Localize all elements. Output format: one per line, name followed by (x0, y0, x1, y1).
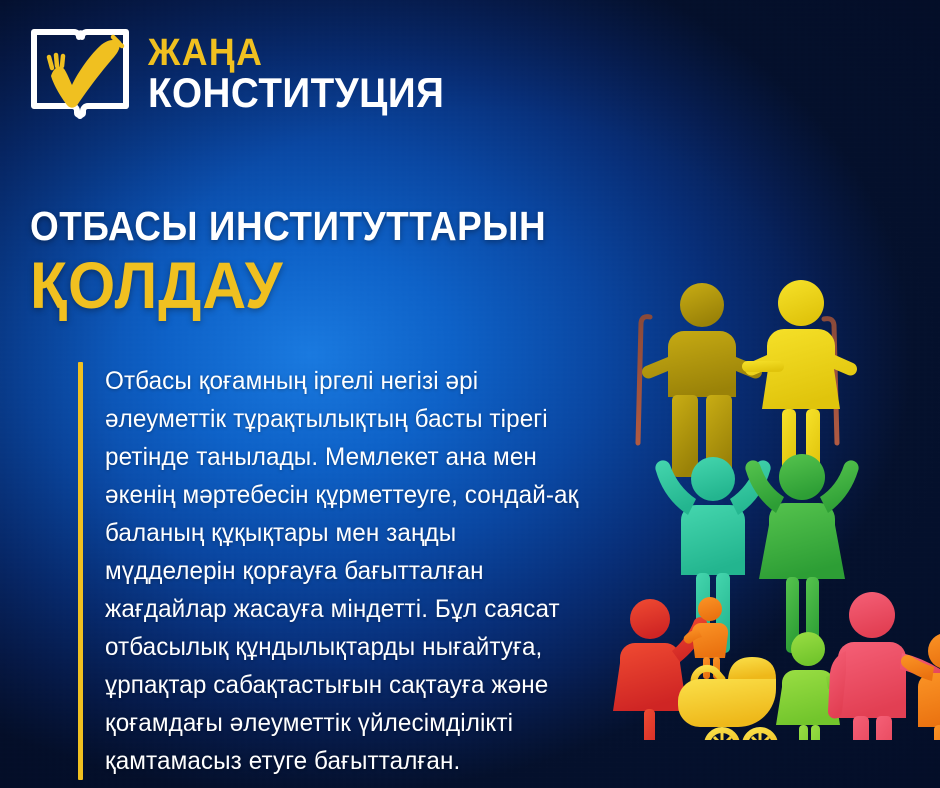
body-paragraph-block: Отбасы қоғамның іргелі негізі әрі әлеуме… (78, 362, 598, 780)
page-title-line-1: ОТБАСЫ ИНСТИТУТТАРЫН (30, 206, 588, 248)
woman-arms-raised-figure (745, 454, 858, 653)
open-book-with-checkmark-icon (28, 24, 132, 124)
brand-logo-text: ЖАҢА КОНСТИТУЦИЯ (148, 36, 470, 113)
parents-celebrating-row (655, 454, 858, 653)
yellow-accent-bar (78, 362, 83, 780)
boy-figure (901, 633, 940, 740)
page-title: ОТБАСЫ ИНСТИТУТТАРЫН ҚОЛДАУ (30, 206, 650, 318)
three-generations-family-pictogram (610, 265, 940, 740)
grandparents-row (638, 280, 857, 479)
brand-logo: ЖАҢА КОНСТИТУЦИЯ (28, 24, 470, 124)
grandfather-figure (642, 283, 762, 477)
poster-canvas: ЖАҢА КОНСТИТУЦИЯ ОТБАСЫ ИНСТИТУТТАРЫН ҚО… (0, 0, 940, 788)
brand-logo-line-1: ЖАҢА (148, 36, 451, 71)
page-title-line-2: ҚОЛДАУ (30, 252, 600, 318)
stroller-icon (678, 657, 776, 740)
brand-logo-line-2: КОНСТИТУЦИЯ (148, 74, 444, 113)
body-paragraph-text: Отбасы қоғамның іргелі негізі әрі әлеуме… (105, 362, 583, 780)
young-family-row (613, 592, 940, 740)
grandmother-figure (745, 280, 857, 479)
